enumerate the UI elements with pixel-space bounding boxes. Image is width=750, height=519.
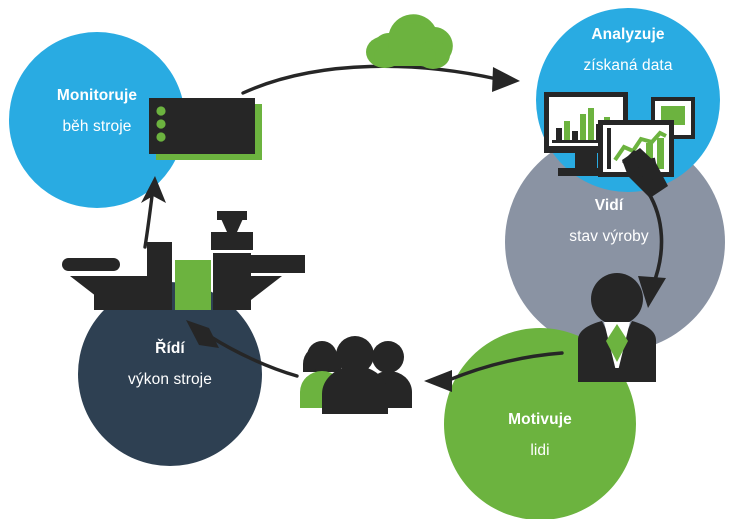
factory-machine-icon	[62, 211, 305, 310]
cloud-icon	[366, 14, 453, 69]
diagram-graphics	[0, 0, 750, 519]
arrow-monitor-to-analyze	[243, 66, 520, 93]
server-device-icon	[149, 98, 262, 160]
people-group-icon	[300, 336, 412, 414]
cycle-diagram-canvas: Monitoruje běh stroje Analyzuje získaná …	[0, 0, 750, 519]
